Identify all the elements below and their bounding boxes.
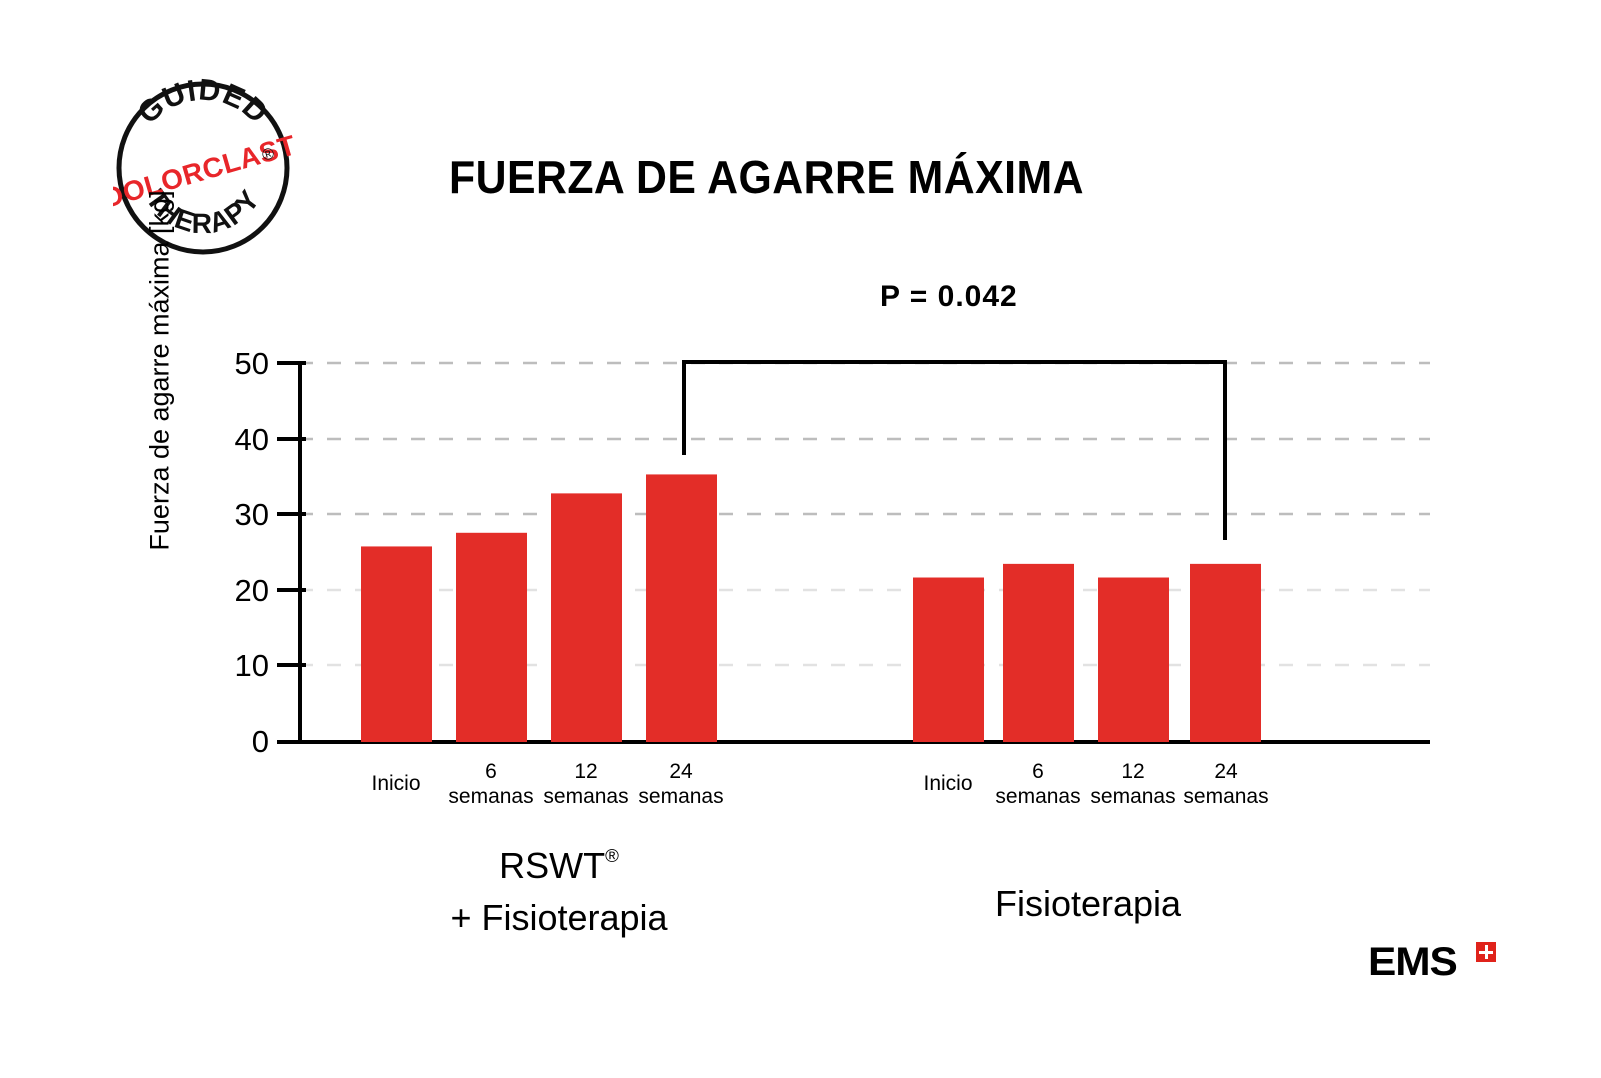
gridline-stubs (299, 590, 1430, 665)
bar-group-fisioterapia (913, 564, 1261, 742)
y-tick-label: 50 (205, 348, 269, 379)
significance-bracket (684, 362, 1225, 540)
bar (1190, 564, 1261, 742)
x-tick-line1: 24 (1166, 760, 1286, 785)
x-tick-label-rswt-24sem: 24 semanas (621, 760, 741, 810)
y-tick-marks (277, 363, 306, 665)
bar-group-rswt (361, 474, 717, 742)
y-tick-label: 0 (205, 726, 269, 757)
y-tick-label: 40 (205, 424, 269, 455)
y-tick-label: 30 (205, 499, 269, 530)
group-label-line2: + Fisioterapia (379, 892, 739, 944)
y-tick-label: 10 (205, 650, 269, 681)
guided-dolorclast-therapy-logo: GUIDED THERAPY DOLORCLAST ® (113, 78, 293, 258)
bar (1003, 564, 1074, 742)
bar (456, 533, 527, 742)
bar (1098, 578, 1169, 742)
p-value-annotation: P = 0.042 (880, 280, 1018, 314)
group-label-line1: RSWT® (379, 840, 739, 892)
page-title: FUERZA DE AGARRE MÁXIMA (449, 150, 1084, 204)
ems-logo: EMS (1368, 940, 1452, 986)
ems-wordmark: EMS (1368, 940, 1457, 985)
x-tick-label-fisio-24sem: 24 semanas (1166, 760, 1286, 810)
group-label-fisioterapia: Fisioterapia (908, 878, 1268, 930)
group-label-rswt: RSWT® + Fisioterapia (379, 840, 739, 944)
x-tick-line1: 24 (621, 760, 741, 785)
registered-mark: ® (605, 845, 619, 866)
x-tick-line2: semanas (1166, 785, 1286, 810)
bar (913, 578, 984, 742)
x-tick-line2: semanas (621, 785, 741, 810)
group-label-line1: Fisioterapia (908, 878, 1268, 930)
gridlines (299, 363, 1430, 514)
bar (551, 493, 622, 742)
bar (646, 474, 717, 742)
swiss-cross-icon (1476, 942, 1496, 962)
bar (361, 546, 432, 742)
y-axis-title: Fuerza de agarre máxima [kg] (145, 171, 176, 571)
y-tick-label: 20 (205, 575, 269, 606)
